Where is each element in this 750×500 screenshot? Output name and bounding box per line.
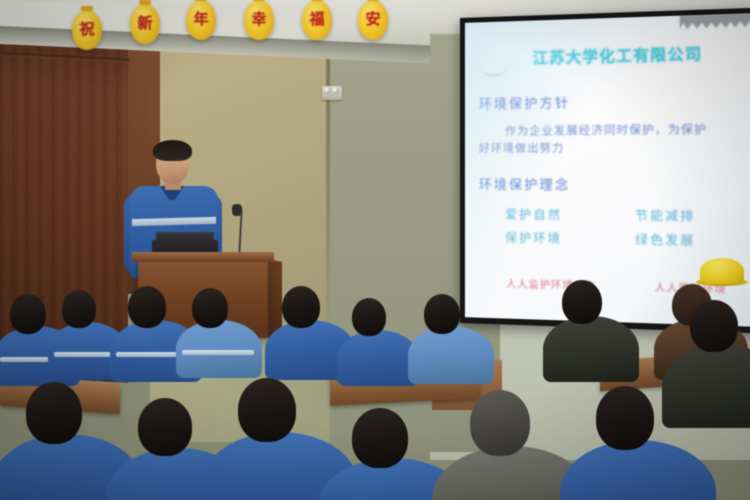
slide-body-line-2: 好环境做出努力 <box>479 138 750 156</box>
slide-concept-grid: 爱护自然节能减排保护环境绿色发展 <box>479 205 750 250</box>
lantern-glyph: 祝 <box>72 18 102 39</box>
lantern-6-icon: 安 <box>358 0 388 40</box>
attendee-head <box>128 286 166 328</box>
attendee-head <box>62 290 96 328</box>
slide-concept-2: 节能减排 <box>635 206 750 225</box>
slide-company-title: 江苏大学化工有限公司 <box>479 41 750 70</box>
lantern-5-icon: 福 <box>302 0 332 40</box>
attendee-shoulders <box>337 330 419 386</box>
lantern-3-icon: 年 <box>186 0 216 40</box>
slide-concept-3: 保护环境 <box>505 229 625 248</box>
lantern-cap <box>311 0 323 1</box>
slide-body-line-1: 作为企业发展经济同时保护，为保护 <box>479 120 750 140</box>
company-logo-icon <box>481 60 507 77</box>
attendee-head <box>470 390 530 456</box>
attendee-head <box>238 378 296 442</box>
lecture-hall-photo: 祝新年幸福安 江苏大学化工有限公司 环境保护方针 作为企业发展经济同时保护，为保… <box>0 0 750 500</box>
attendee-head <box>282 286 320 328</box>
attendee-head <box>690 300 738 352</box>
lectern-top <box>132 252 274 262</box>
speaker-hair <box>153 140 192 161</box>
attendee-shoulders <box>176 320 262 378</box>
emergency-light-icon <box>322 86 342 100</box>
attendee-shoulders <box>408 326 494 384</box>
attendee-head <box>26 382 82 444</box>
lantern-cap <box>139 0 151 5</box>
attendee-head <box>352 408 408 468</box>
attendee-head <box>10 294 46 334</box>
attendee-head <box>424 294 460 334</box>
lantern-cap <box>367 0 379 1</box>
lantern-glyph: 幸 <box>244 8 274 29</box>
lantern-cap <box>195 0 207 1</box>
attendee-head <box>138 398 192 456</box>
lantern-glyph: 安 <box>358 8 388 29</box>
slide-heading-policy: 环境保护方针 <box>479 89 750 113</box>
attendee-shoulders <box>543 316 639 382</box>
attendee-head <box>352 298 386 336</box>
reflective-stripe <box>182 350 254 355</box>
lantern-glyph: 新 <box>130 12 160 33</box>
lantern-cap <box>81 6 93 11</box>
lantern-glyph: 年 <box>186 8 216 29</box>
zigzag-decoration-icon <box>680 13 750 29</box>
lantern-cap <box>253 0 265 1</box>
slide-concept-1: 爱护自然 <box>505 205 625 224</box>
lantern-2-icon: 新 <box>130 4 160 44</box>
attendee-head <box>192 288 228 328</box>
attendee-head <box>562 280 602 324</box>
lantern-4-icon: 幸 <box>244 0 274 40</box>
attendee-head <box>596 386 654 450</box>
slide-concept-4: 绿色发展 <box>635 230 750 250</box>
lantern-glyph: 福 <box>302 8 332 29</box>
safety-helmet-icon <box>700 258 744 284</box>
slide-heading-concept: 环境保护理念 <box>479 174 750 195</box>
lantern-1-icon: 祝 <box>72 10 102 50</box>
